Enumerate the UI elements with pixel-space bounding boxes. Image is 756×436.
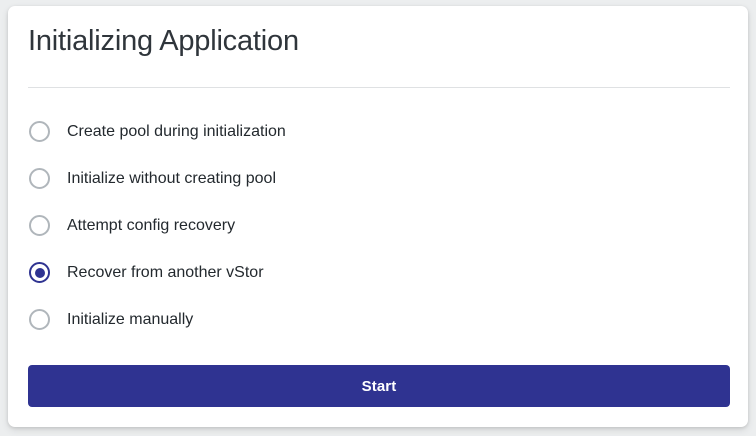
title-divider xyxy=(28,87,730,88)
radio-indicator-unchecked[interactable] xyxy=(29,121,50,142)
radio-option-label: Initialize without creating pool xyxy=(67,170,276,188)
radio-option-recover-from-another-vstor[interactable]: Recover from another vStor xyxy=(28,249,730,296)
page-title: Initializing Application xyxy=(28,25,299,58)
radio-indicator-unchecked[interactable] xyxy=(29,309,50,330)
radio-option-initialize-manually[interactable]: Initialize manually xyxy=(28,296,730,343)
radio-option-label: Recover from another vStor xyxy=(67,264,264,282)
initialization-card: Initializing Application Create pool dur… xyxy=(8,6,748,427)
initialization-mode-radio-group[interactable]: Create pool during initialization Initia… xyxy=(28,108,730,343)
radio-indicator-unchecked[interactable] xyxy=(29,168,50,189)
radio-option-create-pool-during-initialization[interactable]: Create pool during initialization xyxy=(28,108,730,155)
radio-option-attempt-config-recovery[interactable]: Attempt config recovery xyxy=(28,202,730,249)
radio-option-label: Attempt config recovery xyxy=(67,217,235,235)
radio-option-label: Initialize manually xyxy=(67,311,193,329)
radio-option-label: Create pool during initialization xyxy=(67,123,286,141)
start-button[interactable]: Start xyxy=(28,365,730,407)
radio-indicator-checked[interactable] xyxy=(29,262,50,283)
radio-indicator-unchecked[interactable] xyxy=(29,215,50,236)
radio-option-initialize-without-creating-pool[interactable]: Initialize without creating pool xyxy=(28,155,730,202)
